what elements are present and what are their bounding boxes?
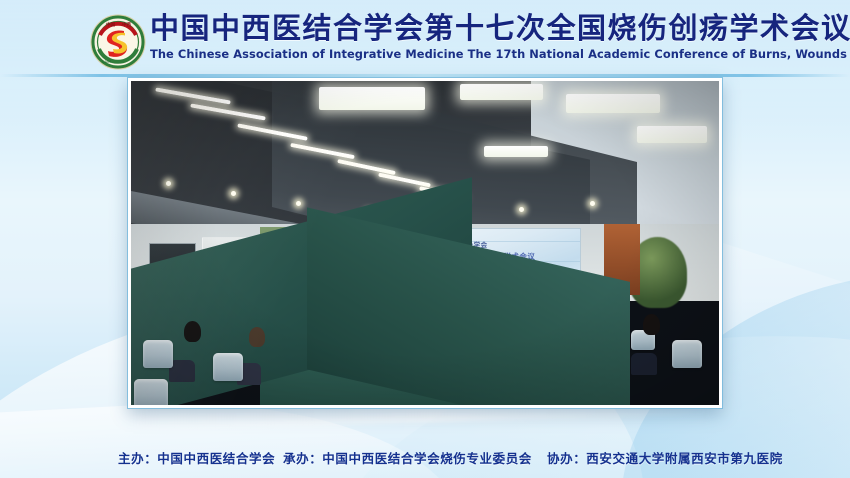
svg-text:CAIM: CAIM (102, 60, 111, 64)
ceiling-panel-light-1 (319, 87, 425, 110)
ceiling-panel-light-5 (484, 146, 549, 157)
slide-canvas: 中国 中西 CAIM 中国中西医结合学会第十七次全国烧伤创疡学术会议 The C… (0, 0, 850, 478)
seat (213, 353, 243, 381)
page-title: 中国中西医结合学会第十七次全国烧伤创疡学术会议 (150, 11, 780, 45)
ceiling-panel-light-4 (637, 126, 708, 142)
seat (134, 379, 168, 405)
svg-text:中西: 中西 (122, 21, 131, 28)
audience-person (249, 327, 265, 347)
footer-organizer: 承办：中国中西医结合学会烧伤专业委员会 (283, 448, 532, 467)
header-divider (0, 74, 850, 77)
ceiling-panel-light-3 (566, 94, 660, 113)
title-block: 中国中西医结合学会第十七次全国烧伤创疡学术会议 The Chinese Asso… (150, 11, 780, 61)
audience-torso (169, 360, 195, 382)
downlight-7 (590, 201, 595, 206)
seat (143, 340, 173, 368)
audience-person (184, 321, 201, 342)
header: 中国 中西 CAIM 中国中西医结合学会第十七次全国烧伤创疡学术会议 The C… (0, 0, 850, 76)
downlight-3 (296, 201, 301, 206)
svg-text:中国: 中国 (106, 21, 115, 28)
seat (672, 340, 702, 368)
association-emblem-icon: 中国 中西 CAIM (88, 13, 148, 71)
footer-host: 主办：中国中西医结合学会 (118, 448, 275, 467)
audience-person (643, 314, 660, 335)
footer-coorganizer: 协办：西安交通大学附属西安市第九医院 (547, 448, 783, 467)
page-subtitle: The Chinese Association of Integrative M… (150, 47, 780, 61)
footer: 主办：中国中西医结合学会 承办：中国中西医结合学会烧伤专业委员会 协办：西安交通… (0, 448, 850, 478)
ceiling-panel-light-2 (460, 84, 542, 100)
conference-photo: MEBO 中国中西医结合学会 第十七次全国烧伤创疡学术会议 The Chines… (128, 78, 722, 408)
photo-content: MEBO 中国中西医结合学会 第十七次全国烧伤创疡学术会议 The Chines… (131, 81, 719, 405)
audience-torso (631, 353, 657, 375)
